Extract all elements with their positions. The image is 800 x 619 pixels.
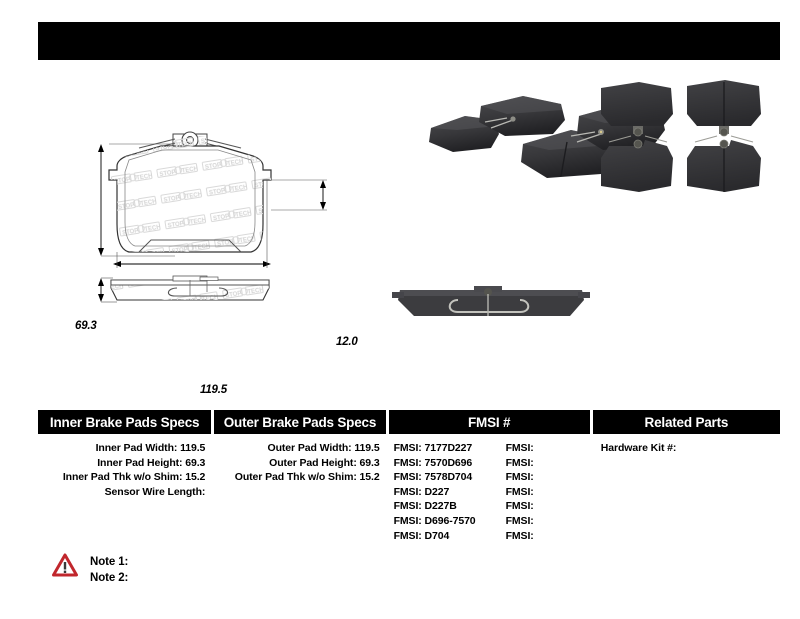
dimension-label-thickness: 12.0 [336,336,358,348]
fmsi-entry-empty: FMSI: [506,441,586,456]
fmsi-column-right: FMSI: FMSI: FMSI: FMSI: FMSI: FMSI: FMSI… [506,441,586,543]
spec-line: Outer Pad Thk w/o Shim: 15.2 [214,470,379,485]
technical-drawing: STOP TECH [55,128,395,338]
related-parts-cell: Hardware Kit #: [593,441,780,543]
column-header-outer-specs: Outer Brake Pads Specs [214,410,385,434]
dimension-thickness [271,180,327,210]
pad-cad-drawing: STOP TECH [55,128,395,343]
inner-specs-cell: Inner Pad Width: 119.5 Inner Pad Height:… [38,441,211,543]
fmsi-entry: FMSI: D227B [394,499,506,514]
product-photo-group [395,72,785,202]
column-header-inner-specs: Inner Brake Pads Specs [38,410,211,434]
fmsi-entry-empty: FMSI: [506,456,586,471]
hardware-kit-line: Hardware Kit #: [601,441,780,456]
header-bar: 309.06960 Brake Pad [38,22,780,60]
notes-section: Note 1: Note 2: [52,553,128,586]
fmsi-entry-empty: FMSI: [506,514,586,529]
warning-icon [52,553,78,577]
spec-sheet-page: 309.06960 Brake Pad STOP TECH [0,0,800,619]
pad-side-view [95,273,295,313]
spec-line: Inner Pad Thk w/o Shim: 15.2 [38,470,205,485]
spec-line: Sensor Wire Length: [38,485,205,500]
outer-specs-cell: Outer Pad Width: 119.5 Outer Pad Height:… [214,441,385,543]
fmsi-entry: FMSI: D227 [394,485,506,500]
fmsi-entry-empty: FMSI: [506,529,586,544]
part-number: 309.06960 [50,32,126,50]
spec-table-body: Inner Pad Width: 119.5 Inner Pad Height:… [38,434,780,543]
fmsi-entry-empty: FMSI: [506,485,586,500]
column-header-related-parts: Related Parts [593,410,780,434]
fmsi-cell: FMSI: 7177D227 FMSI: 7570D696 FMSI: 7578… [389,441,590,543]
fmsi-entry: FMSI: 7177D227 [394,441,506,456]
spec-line: Inner Pad Height: 69.3 [38,456,205,471]
spec-line: Outer Pad Height: 69.3 [214,456,379,471]
product-type-title: Brake Pad [693,32,768,50]
note-2: Note 2: [90,570,128,586]
product-photo-side [392,272,592,334]
dimension-label-width: 119.5 [200,384,227,396]
spec-table-header-row: Inner Brake Pads Specs Outer Brake Pads … [38,410,780,434]
column-header-fmsi: FMSI # [389,410,590,434]
fmsi-entry: FMSI: D704 [394,529,506,544]
fmsi-entry: FMSI: D696-7570 [394,514,506,529]
fmsi-entry-empty: FMSI: [506,499,586,514]
fmsi-entry: FMSI: 7578D704 [394,470,506,485]
fmsi-column-left: FMSI: 7177D227 FMSI: 7570D696 FMSI: 7578… [394,441,506,543]
note-text-group: Note 1: Note 2: [90,553,128,586]
note-1: Note 1: [90,554,128,570]
spec-table: Inner Brake Pads Specs Outer Brake Pads … [38,410,780,543]
dimension-label-height: 69.3 [75,320,97,332]
spec-line: Outer Pad Width: 119.5 [214,441,379,456]
fmsi-entry: FMSI: 7570D696 [394,456,506,471]
fmsi-columns: FMSI: 7177D227 FMSI: 7570D696 FMSI: 7578… [394,441,590,543]
side-profile-photo [392,272,592,334]
pad-front-view [95,128,295,268]
spec-line: Inner Pad Width: 119.5 [38,441,205,456]
fmsi-entry-empty: FMSI: [506,470,586,485]
product-photos [395,72,785,202]
